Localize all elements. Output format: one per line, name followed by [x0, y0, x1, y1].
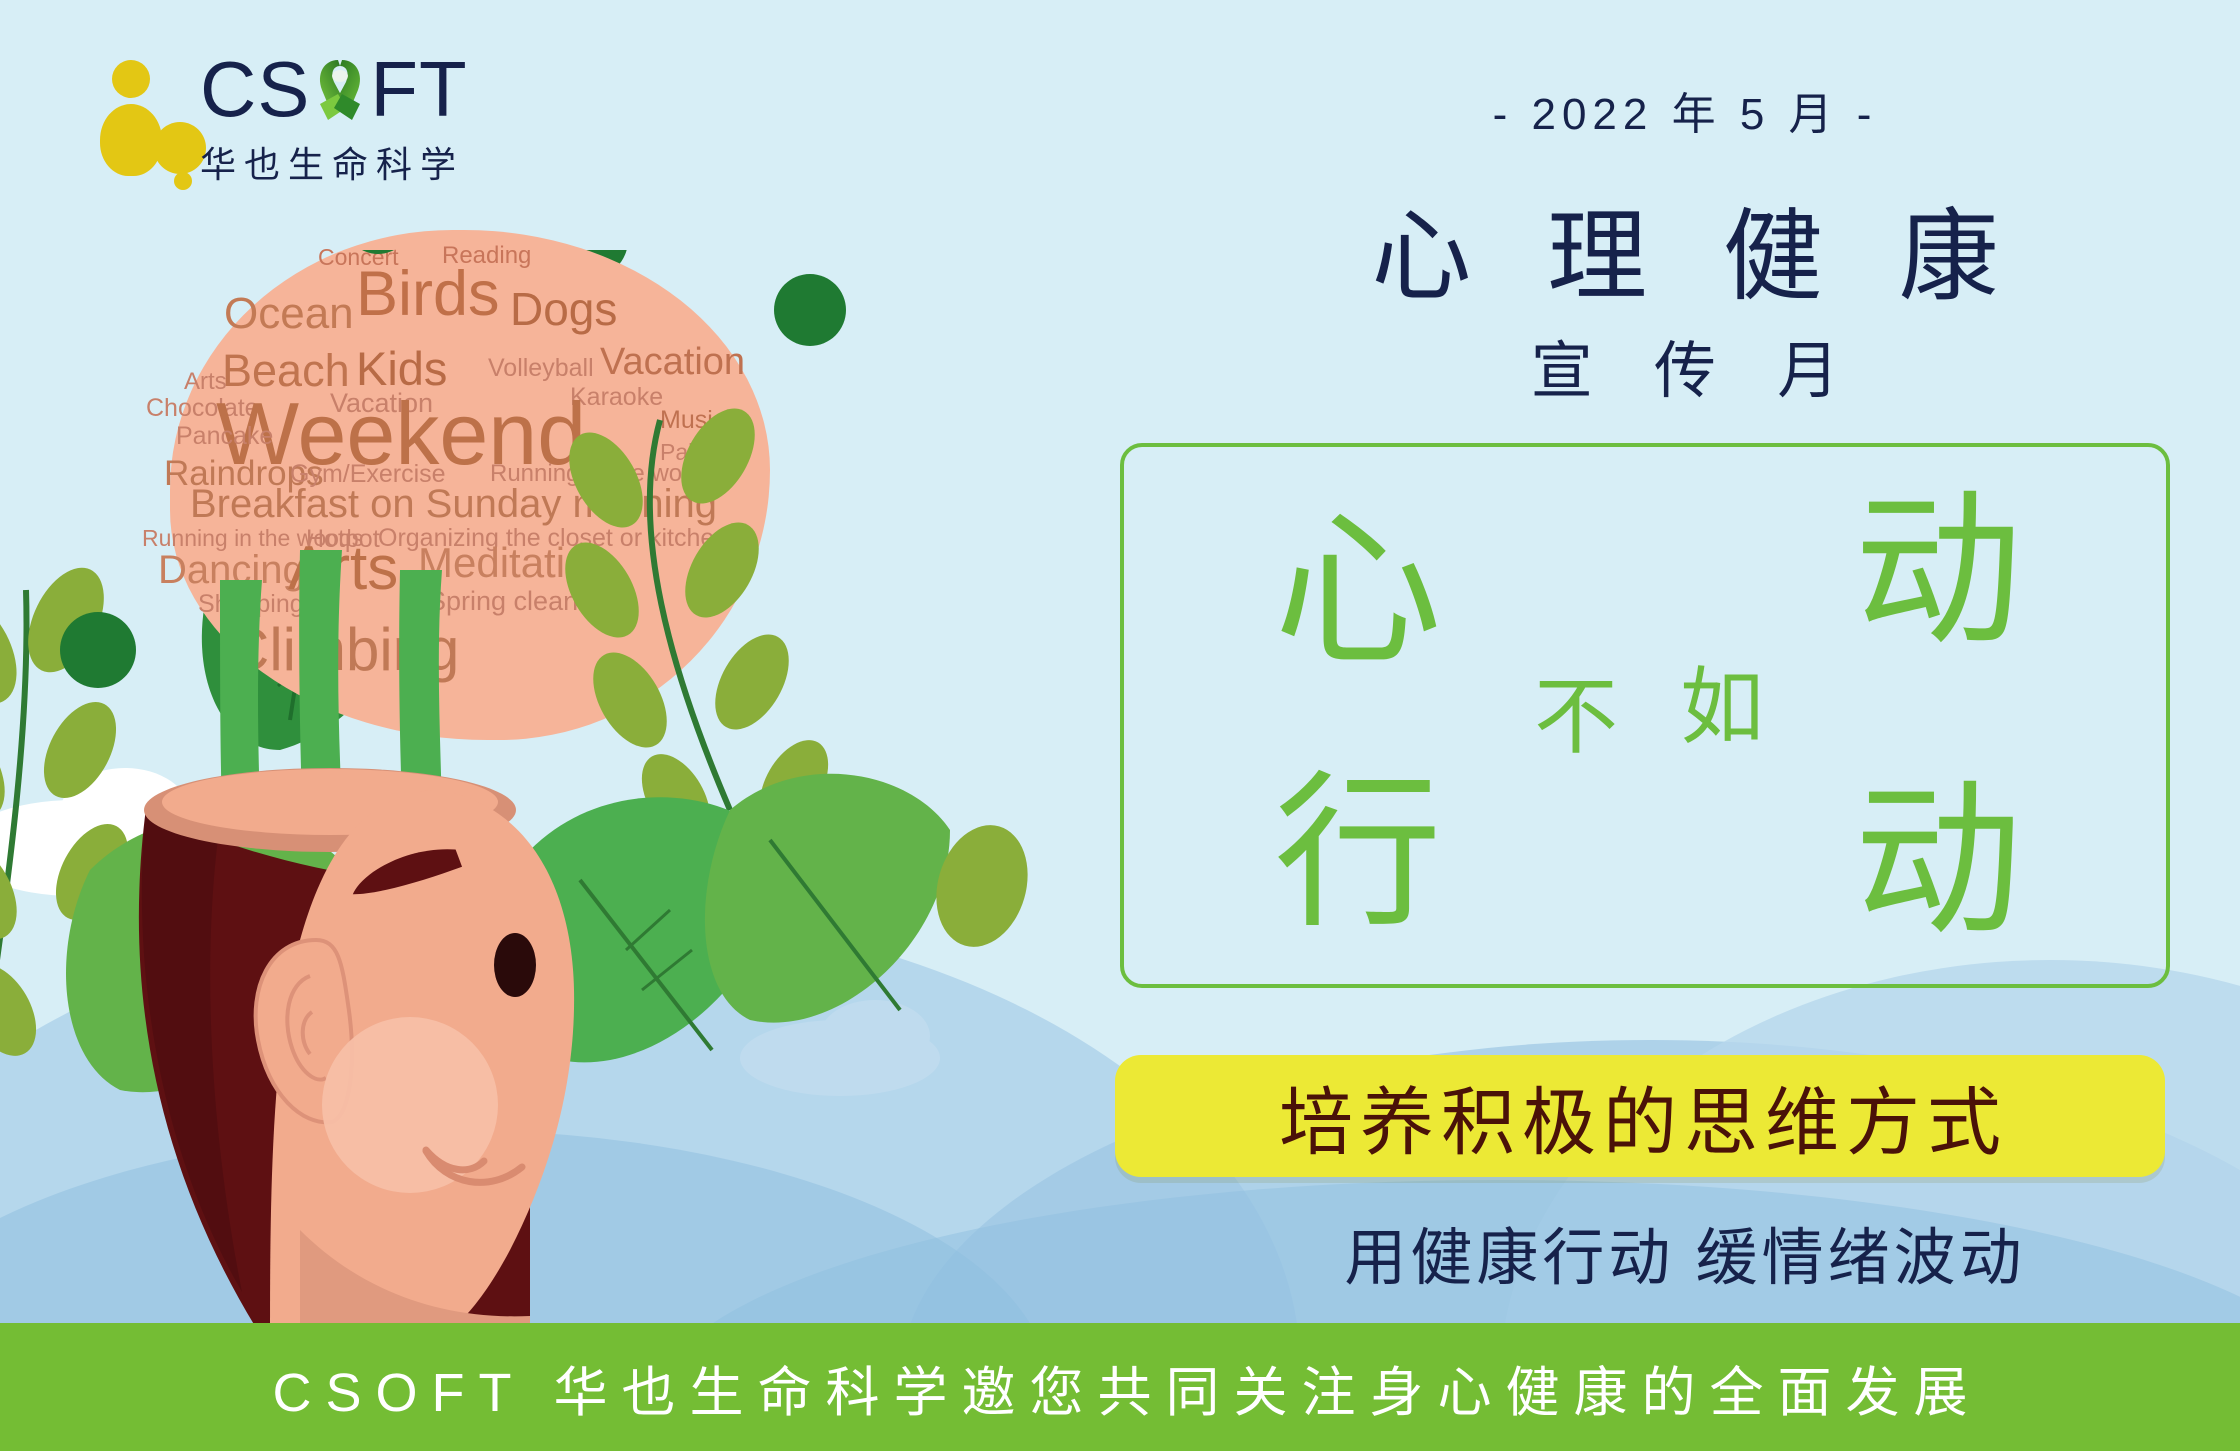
slogan-char-mid-left: 不 [1534, 675, 1618, 759]
slogan-char-top-right: 动 [1854, 487, 2022, 655]
logo-wordmark-part1: CS [200, 45, 310, 133]
highlight-pill-label: 培养积极的思维方式 [1272, 1063, 2008, 1170]
page-subtitle: 宣 传 月 [1130, 320, 2240, 410]
footer-banner: CSOFT 华也生命科学邀您共同关注身心健康的全面发展 [0, 1323, 2240, 1451]
slogan-char-bottom-right: 动 [1854, 777, 2022, 945]
slogan-char-bottom-left: 行 [1274, 769, 1442, 937]
tagline: 用健康行动 缓情绪波动 [1130, 1207, 2240, 1297]
poster-canvas: CS [0, 0, 2240, 1451]
slogan-box: 心 动 不 如 行 动 [1120, 443, 2170, 988]
right-content-column: - 2022 年 5 月 - 心 理 健 康 宣 传 月 心 动 不 如 行 动… [1130, 0, 2240, 1451]
ribbon-icon [308, 56, 372, 130]
logo-lettering: CS [200, 50, 468, 188]
logo-mark-icon [88, 60, 198, 180]
footer-banner-text: CSOFT 华也生命科学邀您共同关注身心健康的全面发展 [258, 1348, 1981, 1427]
head-illustration: ConcertReadingBirdsOceanDogsBeachKidsVol… [0, 250, 1090, 1350]
brand-logo[interactable]: CS [88, 50, 568, 180]
highlight-pill: 培养积极的思维方式 [1115, 1055, 2165, 1177]
logo-subtitle: 华也生命科学 [200, 136, 468, 188]
slogan-char-top-left: 心 [1274, 507, 1442, 675]
date-label: - 2022 年 5 月 - [1130, 78, 2240, 142]
human-head-icon [0, 250, 1090, 1350]
logo-wordmark: CS [200, 50, 468, 130]
slogan-char-mid-right: 如 [1680, 665, 1764, 749]
logo-wordmark-part2: FT [370, 45, 467, 133]
page-title: 心 理 健 康 [1130, 175, 2240, 320]
